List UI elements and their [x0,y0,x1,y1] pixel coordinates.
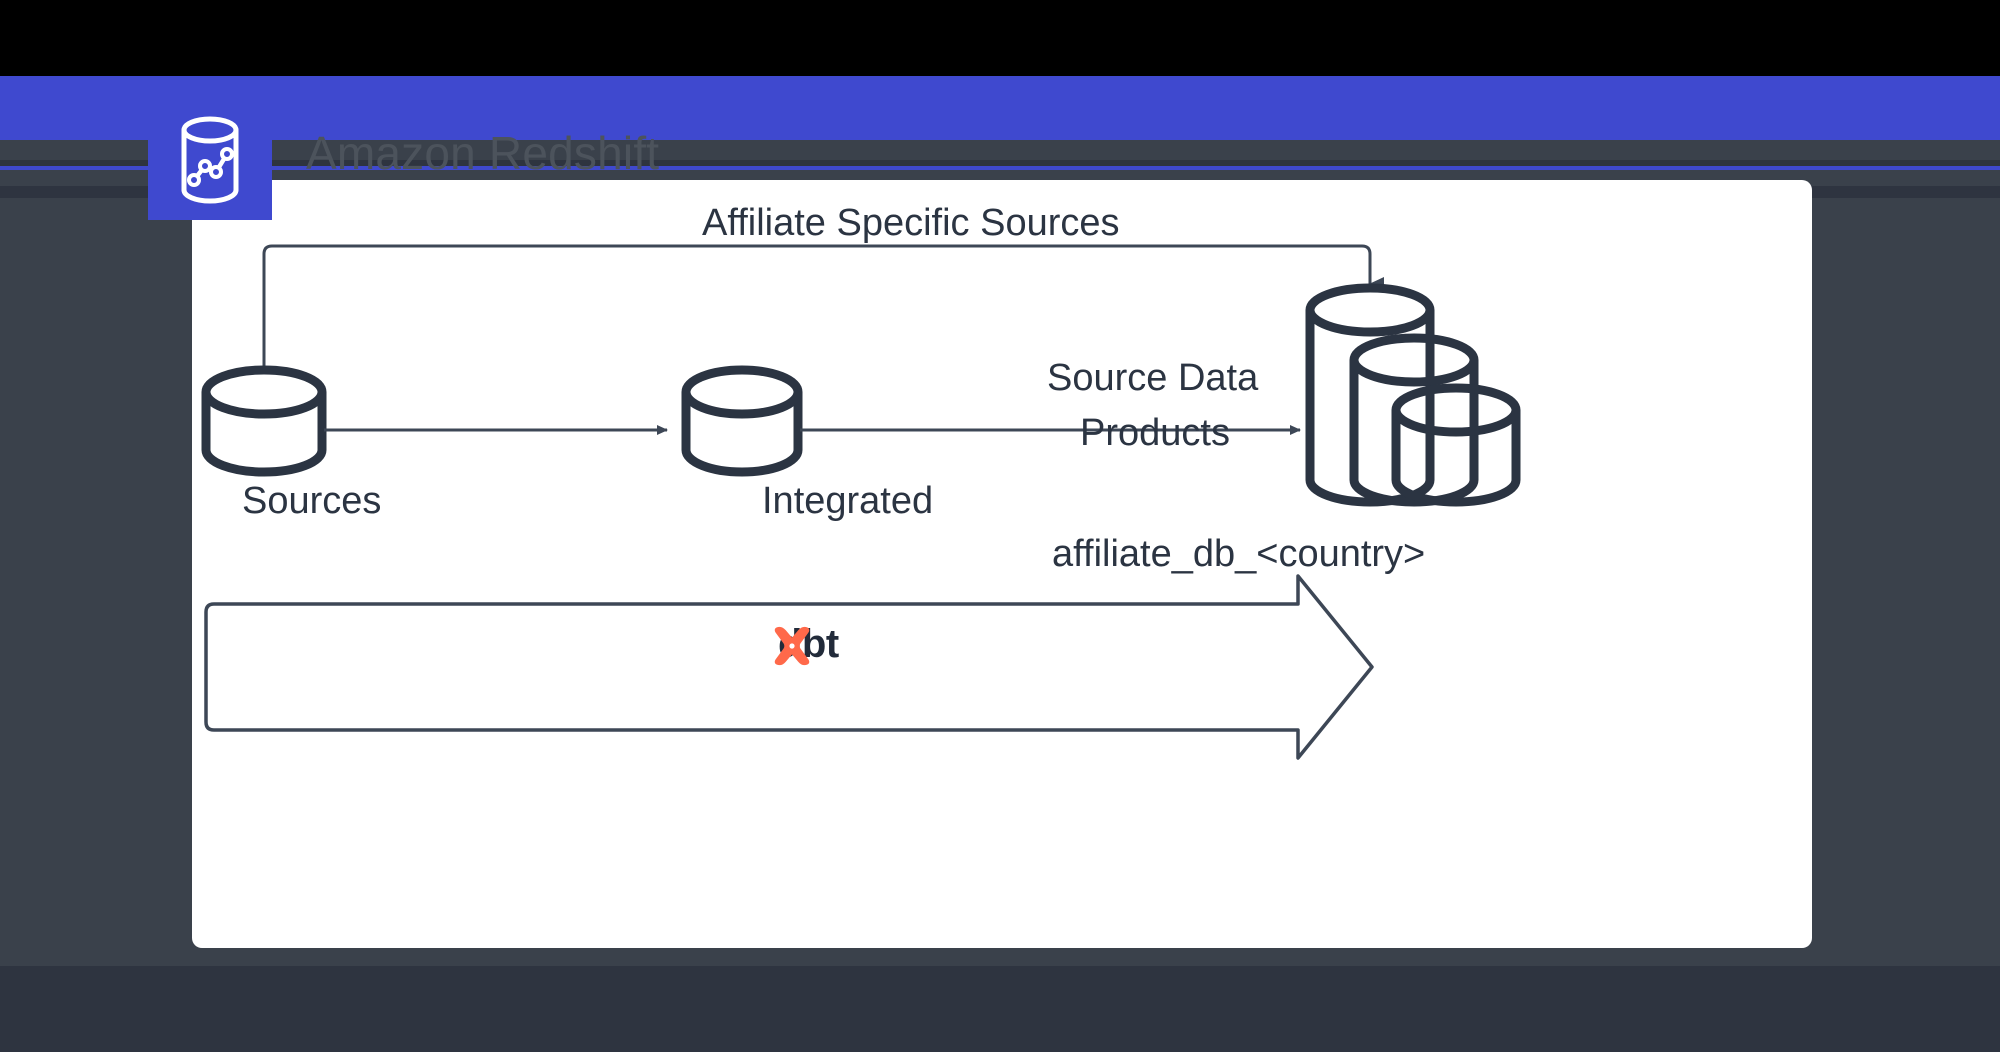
diagram-canvas [192,180,1812,948]
edge-label-source-data-line2: Products [1080,412,1230,455]
edge-label-source-data-line1: Source Data [1047,357,1258,400]
node-label-integrated: Integrated [762,480,933,523]
diagram-card: Affiliate Specific Sources Sources Integ… [192,180,1812,948]
edge-label-affiliate-specific-sources: Affiliate Specific Sources [702,202,1120,245]
redshift-logo-tile [148,100,272,220]
page-title: Amazon Redshift [306,126,659,180]
node-label-sources: Sources [242,480,381,523]
screenshot-root: Amazon Redshift [0,0,2000,1052]
desktop-backdrop-lower [0,966,2000,1052]
node-sources-cylinder [206,370,322,472]
dbt-logo: dbt [770,624,839,664]
node-label-affiliate-db: affiliate_db_<country> [1052,533,1425,576]
brand-hairline [0,166,2000,170]
brand-banner [0,76,2000,140]
overlay-strip-1 [0,140,2000,156]
redshift-cylinder-chart-icon [174,114,246,206]
node-integrated-cylinder [686,370,798,472]
node-affiliate-db-cylinder-stack [1310,288,1516,502]
